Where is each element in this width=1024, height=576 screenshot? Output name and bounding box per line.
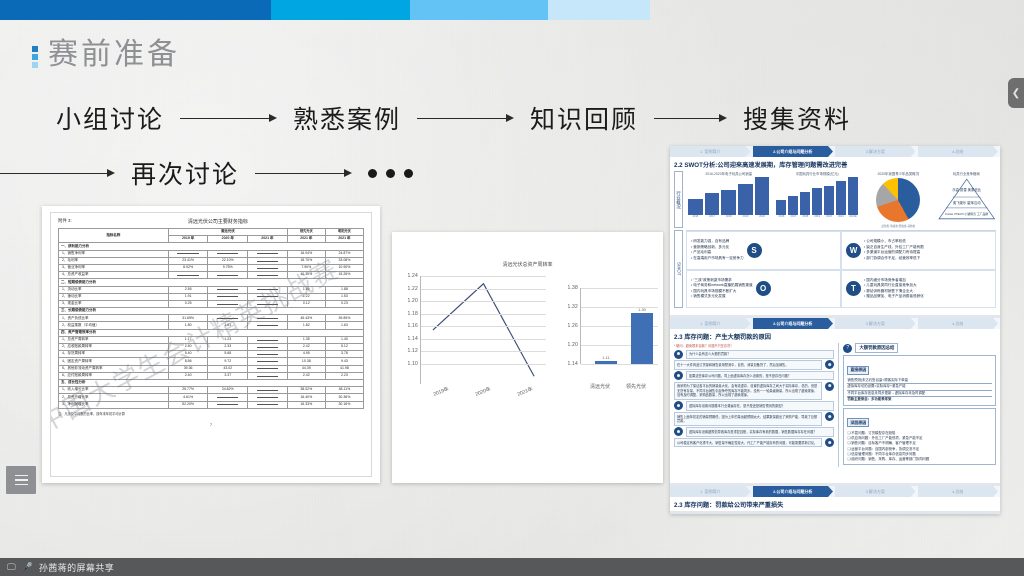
row-label: 6、应付账款周转率 (59, 372, 169, 379)
cell-4: 39.89% (325, 315, 363, 322)
line-gridline (421, 276, 546, 277)
cell-3: 45.43% (287, 315, 325, 322)
swot-items: 公司规模小，市占率较低缺乏自身生产线，外包工厂产能有限多渠道平台运营的调配力有待… (864, 239, 924, 261)
flow-arrow-4 (0, 169, 115, 177)
blank-marker (257, 374, 278, 377)
cell-2 (248, 394, 288, 401)
cell-1: 9.72 (208, 358, 248, 365)
mini-bar-label: 2017 (788, 215, 798, 218)
summary-icon: ? (843, 344, 852, 353)
svg-text:奥飞娱乐 星辉互动: 奥飞娱乐 星辉互动 (952, 200, 980, 205)
row-label: 2、毛利率 (59, 257, 169, 264)
minichart-2-bars (774, 177, 859, 215)
dialogue-bubble: 公司稳定有客户化重不大，销售量不确定性较大，代工厂产能产能存有的问题，可能需要重… (674, 438, 822, 447)
row-label: 1、资产负债比率 (59, 315, 169, 322)
ppt-slide-inventory-loss: 1. 案例简介2.公司介绍与问题分析3.解决方案4.总结 2.3 库存问题：罚款… (670, 486, 1000, 514)
document-page-number: 7 (58, 422, 364, 427)
cell-3: 7.90% (287, 264, 325, 271)
direct-cause-label: 直接原因 (847, 366, 869, 375)
cell-4: 33.08% (325, 257, 363, 264)
flow-row-secondary: 再次讨论 (0, 155, 460, 191)
ppt-nav-chip[interactable]: 2.公司介绍与问题分析 (753, 486, 834, 497)
cell-3: 16.33% (287, 401, 325, 408)
ppt-nav-chip[interactable]: 3.解决方案 (835, 146, 916, 157)
bar-label-1: 1.30 (638, 307, 646, 312)
row-label: 1、流动比率 (59, 286, 169, 293)
direct-cause-line: 罚款主要来自：多功能季库架 (847, 397, 992, 402)
table-row: 3、现金比率0.250.120.23 (59, 300, 364, 307)
ppt-nav-chip[interactable]: 1. 案例简介 (670, 318, 751, 329)
table-row: 2、毛利率23.41%22.10%18.70%33.08% (59, 257, 364, 264)
bar-ytick: 1.26 (567, 323, 578, 329)
bar-pale-blue (548, 0, 650, 20)
swot-item: 儿童玩具类同行业直接竞争加大 (864, 283, 924, 288)
bar-dark-blue (0, 0, 271, 20)
cell-3: 2.42 (287, 372, 325, 379)
cell-1 (208, 293, 248, 300)
mini-bar-label: 2020 (755, 215, 770, 218)
ppt-nav-chip[interactable]: 4.总结 (918, 146, 999, 157)
screen-share-status-bar: 🖵 🎤 孙茜蒋的屏幕共享 (0, 558, 1024, 576)
section-label: 五、成长性分析 (59, 379, 364, 386)
cell-0: 23.41% (168, 257, 208, 264)
cell-2 (248, 293, 288, 300)
cell-1: 1.61 (208, 322, 248, 329)
cell-4: 10.90% (325, 264, 363, 271)
table-row: 1、收入增长比率25.77%24.82%38.02%48.11% (59, 387, 364, 394)
swot-item: 多渠道平台运营的调配力有待提高 (864, 250, 924, 255)
cell-2 (248, 264, 288, 271)
cell-3: 16.04% (287, 250, 325, 257)
cell-4: 24.87% (325, 250, 363, 257)
speaker-avatar-icon: ☻ (674, 427, 683, 436)
swot-badge-w: W (846, 243, 861, 258)
slide-title-block: 赛前准备 (32, 40, 180, 70)
swot-items: "三孩"政策刺激市场需求电子商务和network直播拓展销售渠道国内玩具市场规模… (691, 278, 753, 300)
dialogue-row: ☻为什么会有这么大额的罚款？ (674, 350, 834, 359)
cell-3: 16.40% (287, 394, 325, 401)
flow-step-5: 再次讨论 (131, 155, 239, 191)
cell-1: 1.23 (208, 336, 248, 343)
line-chart: 1.241.221.201.181.161.141.121.10 2019年20… (398, 276, 546, 384)
hamburger-icon[interactable] (6, 466, 36, 494)
bar-0 (595, 361, 617, 364)
pie-chart-graphic (876, 178, 920, 222)
cell-3: 38.02% (287, 387, 325, 394)
blank-marker (257, 366, 278, 369)
row-label: 1、总资产周转率 (59, 336, 169, 343)
bar-chart-y-axis: 1.381.321.261.201.14 (558, 288, 580, 380)
swot-badge-s: S (747, 243, 762, 258)
col-mingyang-2021: 2021 年 (325, 236, 363, 243)
title-accent-dots (32, 43, 38, 68)
row-label: 3、营业净利率 (59, 264, 169, 271)
col-group-qingyuan: 清远光伏 (168, 229, 287, 236)
cell-1: 5.68 (208, 351, 248, 358)
speaker-avatar-icon: ☻ (825, 360, 834, 369)
minichart-2-title: 中国玩具行业市场规模(亿元) (774, 171, 859, 176)
cell-2 (248, 250, 288, 257)
ppt-nav-chip[interactable]: 3.解决方案 (835, 318, 916, 329)
table-row: 6、应付账款周转率2.403.372.422.23 (59, 372, 364, 379)
col-leading-2021: 2021 年 (287, 236, 325, 243)
mini-bar (738, 184, 753, 215)
swot-items: 国内细分市场竞争者增加儿童玩具类同行业直接竞争加大婴幼训练器材销售下滑企业大赠品… (864, 278, 924, 300)
line-gridline (421, 314, 546, 315)
ppt-nav-3: 1. 案例简介2.公司介绍与问题分析3.解决方案4.总结 (670, 486, 1000, 497)
ppt-nav-chip[interactable]: 4.总结 (918, 318, 999, 329)
ppt-nav-chip[interactable]: 2.公司介绍与问题分析 (753, 318, 834, 329)
blank-marker (177, 251, 198, 254)
ppt-nav-chip[interactable]: 1. 案例简介 (670, 146, 751, 157)
minichart-1-bars (686, 177, 771, 215)
line-gridline (421, 339, 546, 340)
swot-cell-w: W公司规模小，市占率较低缺乏自身生产线，外包工厂产能有限多渠道平台运营的调配力有… (841, 231, 996, 270)
bar-label-0: 1.11 (602, 355, 610, 360)
blank-marker (177, 273, 198, 276)
cell-4: 1.53 (325, 293, 363, 300)
financial-indicators-table: 指标名称 清远光伏 领先光伏 明阳光伏 2019 年 2020 年 2021 年… (58, 228, 364, 409)
pie-legend: 益智类·毛绒类·塑胶类·其他类 (863, 224, 934, 228)
row-label: 4、固定资产周转率 (59, 358, 169, 365)
cell-0: 52.20% (168, 401, 208, 408)
line-gridline (421, 301, 546, 302)
row-label: 1、销售净利率 (59, 250, 169, 257)
flow-step-2: 熟悉案例 (293, 100, 401, 136)
mini-bar-label: 2018 (721, 215, 736, 218)
swot-item: 销售模式多元化发展 (691, 294, 753, 299)
svg-text:乐高 费雪 美泰芭比: 乐高 费雪 美泰芭比 (952, 187, 981, 192)
bar-ytick: 1.38 (567, 285, 578, 291)
mini-bar-label: 2020 (824, 215, 834, 218)
cell-4: 5.12 (325, 344, 363, 351)
mini-bar-label: 2017 (705, 215, 720, 218)
line-ytick: 1.22 (407, 286, 418, 292)
section-label: 三、长期偿债能力分析 (59, 308, 364, 315)
table-row: 1、销售净利率16.04%24.87% (59, 250, 364, 257)
cell-1: 3.37 (208, 372, 248, 379)
mini-bar (788, 196, 798, 215)
dialogue-bubble: 我采购为了保证各平台的销量最大化，会有线虚存，设置的虚拟库存之间大于实际库存，总… (674, 382, 822, 400)
col-2020: 2020 年 (208, 236, 248, 243)
table-row: 4、固定资产周转率8.569.7210.389.43 (59, 358, 364, 365)
swot-items: 研发能力强，自有品牌营销策略创新、多元化产品毛利高在高端用户市场具有一定竞争力 (691, 239, 744, 261)
dialogue-row: 公司稳定有客户化重不大，销售量不确定性较大，代工厂产能产能存有的问题，可能需要重… (674, 438, 834, 447)
col-indicator: 指标名称 (59, 229, 169, 243)
title-dot-1 (32, 46, 38, 52)
ppt-slide1-heading: 2.2 SWOT分析:公司迎来高速发展期，库存管理问题需改进完善 (670, 157, 1000, 171)
swot-badge-t: T (846, 281, 861, 296)
attachment-label: 附件 3: (58, 218, 72, 225)
cell-2 (248, 401, 288, 408)
blank-marker (217, 316, 238, 319)
swot-cell-s: 研发能力强，自有品牌营销策略创新、多元化产品毛利高在高端用户市场具有一定竞争力S (686, 231, 841, 270)
flow-row-primary: 小组讨论 熟悉案例 知识回顾 搜集资料 (56, 100, 996, 136)
cell-4: 1.63 (325, 322, 363, 329)
slide2-intro: * 疑问：超卖根本百款？问题不只在存货！ (674, 343, 834, 348)
row-label: 3、现金比率 (59, 300, 169, 307)
swot-matrix: 研发能力强，自有品牌营销策略创新、多元化产品毛利高在高端用户市场具有一定竞争力S… (686, 230, 996, 308)
cell-4: 0.23 (325, 300, 363, 307)
cell-4: 30.36% (325, 394, 363, 401)
blank-marker (257, 402, 278, 405)
cell-2 (248, 336, 288, 343)
deep-cause-box: 深层原因 不靠问题：订货模型存在缺陷供应商问题：外包工厂产能低项，紧急产能不足销… (843, 408, 996, 466)
mini-bar (848, 177, 858, 215)
ppt-sidetag-industry: 行业概况 (674, 171, 683, 228)
cell-1: 2.33 (208, 344, 248, 351)
ppt-slide3-heading: 2.3 库存问题：罚款给公司带来严重损失 (670, 497, 1000, 511)
minichart-1-title: 2016-2020年电子玩具公司销量 (686, 171, 771, 176)
speaker-avatar-icon: ☻ (825, 412, 834, 421)
blank-marker (257, 302, 278, 305)
cell-0: 1.80 (168, 322, 208, 329)
table-row: 1、资产负债比率31.65%45.43%39.89% (59, 315, 364, 322)
cell-1: 24.82% (208, 387, 248, 394)
cell-1 (208, 286, 248, 293)
dialogue-bubble: 销售上面年初定的销量预期低，因为上年的量远超预期太大，结果数量超出了采购产能，导… (674, 412, 822, 426)
cell-3: 18.70% (287, 257, 325, 264)
col-2021: 2021 年 (248, 236, 288, 243)
bar-xtick: 领先光伏 (618, 383, 654, 390)
dialogue-row: 销售上面年初定的销量预期低，因为上年的量远超预期太大，结果数量超出了采购产能，导… (674, 412, 834, 426)
line-ytick: 1.16 (407, 323, 418, 329)
ppt-minichart-2: 中国玩具行业市场规模(亿元) 2016201720182019202020212… (774, 171, 859, 228)
chevron-left-icon[interactable]: ❮ (1008, 78, 1024, 108)
line-ytick: 1.12 (407, 348, 418, 354)
bar-ytick: 1.20 (567, 342, 578, 348)
line-gridline (421, 289, 546, 290)
flow-arrow-3 (654, 114, 727, 122)
mini-bar (812, 188, 822, 215)
speaker-avatar-icon: ☻ (825, 438, 834, 447)
col-leading: 领先光伏 (287, 229, 325, 236)
cell-1 (208, 250, 248, 257)
cell-0: 4.61% (168, 394, 208, 401)
cell-3: 44.39 (287, 365, 325, 372)
blank-marker (257, 323, 278, 326)
cell-2 (248, 322, 288, 329)
mini-bar-label: 2016 (776, 215, 786, 218)
table-row: 2、总资产增长率4.61%16.40%30.36% (59, 394, 364, 401)
table-row: 2、应收账款周转率2.502.332.425.12 (59, 344, 364, 351)
line-chart-title: 清远光伏总资产周转率 (392, 261, 663, 268)
minichart-2-labels: 2016201720182019202020212022E (774, 215, 859, 218)
bar-gridline (581, 288, 658, 289)
blank-marker (217, 273, 238, 276)
speaker-avatar-icon: ☻ (674, 371, 683, 380)
blank-marker (257, 251, 278, 254)
table-section-row: 一、获利能力分析 (59, 243, 364, 250)
swot-cell-t: T国内细分市场竞争者增加儿童玩具类同行业直接竞争加大婴幼训练器材销售下滑企业大赠… (841, 270, 996, 309)
ppt-pyramid-chart: 玩具行业竞争格局 乐高 费雪 美泰芭比 奥飞娱乐 星辉互动 Funko VTEC… (937, 171, 996, 228)
table-head: 指标名称 清远光伏 领先光伏 明阳光伏 2019 年 2020 年 2021 年… (59, 229, 364, 243)
cell-1 (208, 300, 248, 307)
financial-report-page: 附件 3: 清远光伏公司主要财务指标 指标名称 清远光伏 领先光伏 明阳光伏 (50, 212, 372, 477)
table-row: 4、总资产收益率10.35%15.26% (59, 272, 364, 279)
cell-4: 48.11% (325, 387, 363, 394)
swot-item: 赠品品牌加、电子产品消费者低龄化 (864, 294, 924, 299)
speaker-avatar-icon: ☻ (674, 350, 683, 359)
line-gridline (421, 326, 546, 327)
cell-2 (248, 286, 288, 293)
mini-bar-label: 2019 (738, 215, 753, 218)
cell-3: 10.38 (287, 358, 325, 365)
cell-1 (208, 315, 248, 322)
table-section-row: 二、短期偿债能力分析 (59, 279, 364, 286)
bar-ytick: 1.32 (567, 304, 578, 310)
dialogue-bubble: 虚拟库存设置问题基本行业普遍存在，是不是还是销售预测的原因？ (686, 401, 834, 410)
cell-1: 43.02 (208, 365, 248, 372)
blank-marker (257, 395, 278, 398)
mini-bar-label: 2019 (812, 215, 822, 218)
flow-arrow-5 (255, 169, 352, 177)
ppt-nav-2: 1. 案例简介2.公司介绍与问题分析3.解决方案4.总结 (670, 318, 1000, 329)
document-header: 附件 3: 清远光伏公司主要财务指标 (58, 218, 364, 225)
cell-0: 8.92% (168, 264, 208, 271)
line-ytick: 1.18 (407, 311, 418, 317)
cell-0: 1.17 (168, 336, 208, 343)
dialogue-row: ☻如果这些库存公司问题，同上面虚拟库存怎么设置的，是不是存在问题？ (674, 371, 834, 380)
row-label: 2、速动比率 (59, 293, 169, 300)
dialogue-column: * 疑问：超卖根本百款？问题不只在存货！ ☻为什么会有这么大额的罚款？在十一大件… (674, 343, 834, 467)
flow-step-3: 知识回顾 (530, 100, 638, 136)
cell-4: 2.23 (325, 372, 363, 379)
title-dot-2 (32, 54, 38, 60)
pyramid-title: 玩具行业竞争格局 (937, 171, 996, 176)
flow-ellipsis (368, 169, 413, 178)
mini-bar (824, 186, 834, 215)
cell-4: 1.40 (325, 336, 363, 343)
line-ytick: 1.20 (407, 298, 418, 304)
ppt-nav-chip[interactable]: 4.总结 (918, 486, 999, 497)
section-label: 四、资产管理效率分析 (59, 329, 364, 336)
cell-4: 1.88 (325, 286, 363, 293)
row-label: 4、存货周转率 (59, 351, 169, 358)
flow-step-1: 小组讨论 (56, 100, 164, 136)
cell-1: 9.75% (208, 264, 248, 271)
dialogue-row: 在十一大件商品订货量和销售费用预测中，目的、消量加备货了，然后加销售。☻ (674, 360, 834, 369)
ppt-nav-chip[interactable]: 3.解决方案 (835, 486, 916, 497)
cell-0: 1.91 (168, 293, 208, 300)
cell-2 (248, 257, 288, 264)
table-row: 4、存货周转率5.405.684.953.78 (59, 351, 364, 358)
cell-3: 2.42 (287, 344, 325, 351)
cell-3: 0.12 (287, 300, 325, 307)
blank-marker (217, 402, 238, 405)
cell-4: 30.16% (325, 401, 363, 408)
cell-1 (208, 394, 248, 401)
direct-cause-box: 直接原因 销售预测(未达约售谷量<顾客实际下单量虚拟库存切拍设置>实际库存+紧急… (843, 355, 996, 406)
bar-ytick: 1.14 (567, 361, 578, 367)
ppt-nav-chip[interactable]: 2.公司介绍与问题分析 (753, 146, 834, 157)
ppt-preview-card: 1. 案例简介2.公司介绍与问题分析3.解决方案4.总结 2.2 SWOT分析:… (670, 146, 1000, 514)
row-label: 2、总资产增长率 (59, 394, 169, 401)
flow-arrow-2 (417, 114, 514, 122)
swot-cell-o: "三孩"政策刺激市场需求电子商务和network直播拓展销售渠道国内玩具市场规模… (686, 270, 841, 309)
bar-light-blue (410, 0, 548, 20)
cell-2 (248, 272, 288, 279)
top-color-bars (0, 0, 1024, 20)
minichart-1-labels: 20162017201820192020 (686, 215, 771, 218)
blank-marker (217, 395, 238, 398)
line-chart-y-axis: 1.241.221.201.181.161.141.121.10 (398, 276, 420, 384)
row-label: 5、其他非流动资产周转率 (59, 365, 169, 372)
blank-marker (257, 316, 278, 319)
blank-marker (257, 345, 278, 348)
cell-4: 9.43 (325, 358, 363, 365)
blank-marker (217, 251, 238, 254)
table-section-row: 四、资产管理效率分析 (59, 329, 364, 336)
svg-text:Funko VTECH 小猪佩奇 工厂品牌: Funko VTECH 小猪佩奇 工厂品牌 (945, 211, 988, 216)
cell-2 (248, 372, 288, 379)
dialogue-bubble: 为什么会有这么大额的罚款？ (686, 350, 834, 359)
cell-2 (248, 387, 288, 394)
cell-0: 2.50 (168, 344, 208, 351)
presentation-slide: 赛前准备 小组讨论 熟悉案例 知识回顾 搜集资料 再次讨论 (0, 0, 1024, 576)
line-gridline (421, 351, 546, 352)
table-body: 一、获利能力分析1、销售净利率16.04%24.87%2、毛利率23.41%22… (59, 243, 364, 408)
swot-badge-o: O (756, 281, 771, 296)
bar-chart: 1.381.321.261.201.14 1.111.30 清远光伏领先光伏 (558, 288, 658, 380)
bar-xtick: 清远光伏 (582, 383, 618, 390)
mini-bar-label: 2016 (688, 215, 703, 218)
cell-2 (248, 358, 288, 365)
cell-3: 1.35 (287, 336, 325, 343)
section-label: 一、获利能力分析 (59, 243, 364, 250)
dialogue-bubble: 虚拟库存设置超规范导致库存是重复挂账，实际库存有着的数据，销售数据库存存在问题？ (686, 427, 834, 436)
cell-0: 2.55 (168, 286, 208, 293)
cell-3: 1.66 (287, 286, 325, 293)
ppt-nav-chip[interactable]: 1. 案例简介 (670, 486, 751, 497)
flow-step-4: 搜集资料 (743, 100, 851, 136)
cell-2 (248, 365, 288, 372)
title-dot-3 (32, 62, 38, 68)
dialogue-row: ☻虚拟库存设置超规范导致库存是重复挂账，实际库存有着的数据，销售数据库存存在问题… (674, 427, 834, 436)
blank-marker (257, 259, 278, 262)
cell-0: 25.77% (168, 387, 208, 394)
cell-3: 4.95 (287, 351, 325, 358)
table-row: 5、其他非流动资产周转率39.3643.0244.3941.98 (59, 365, 364, 372)
flow-arrow-1 (180, 114, 277, 122)
cell-0: 31.65% (168, 315, 208, 322)
cell-4: 41.98 (325, 365, 363, 372)
blank-marker (217, 302, 238, 305)
cell-2 (248, 315, 288, 322)
cell-2 (248, 344, 288, 351)
ppt-pie-chart: 2020年我国青少年品类概况 益智类·毛绒类·塑胶类·其他类 (863, 171, 934, 228)
speaker-avatar-icon: ☻ (825, 382, 834, 391)
line-ytick: 1.24 (407, 273, 418, 279)
cell-3: 1.22 (287, 293, 325, 300)
col-2019: 2019 年 (168, 236, 208, 243)
ppt-slide-inventory-cause: 1. 案例简介2.公司介绍与问题分析3.解决方案4.总结 2.3 库存问题：产生… (670, 318, 1000, 486)
blank-marker (257, 338, 278, 341)
mini-bar (776, 200, 786, 215)
dialogue-bubble: 在十一大件商品订货量和销售费用预测中，目的、消量加备货了，然后加销售。 (674, 360, 822, 369)
mini-bar-label: 2018 (800, 215, 810, 218)
cell-0: 0.25 (168, 300, 208, 307)
document-title: 清远光伏公司主要财务指标 (188, 218, 248, 225)
bar-1 (631, 313, 653, 364)
line-chart-x-axis: 2019年2020年2021年 (420, 388, 546, 395)
cell-0: 8.56 (168, 358, 208, 365)
cell-3: 10.35% (287, 272, 325, 279)
dialogue-row: ☻虚拟库存设置问题基本行业普遍存在，是不是还是销售预测的原因？ (674, 401, 834, 410)
page-title: 赛前准备 (48, 40, 180, 70)
cell-2 (248, 351, 288, 358)
swot-item: 部门协调合作不足，经营效率低下 (864, 256, 924, 261)
